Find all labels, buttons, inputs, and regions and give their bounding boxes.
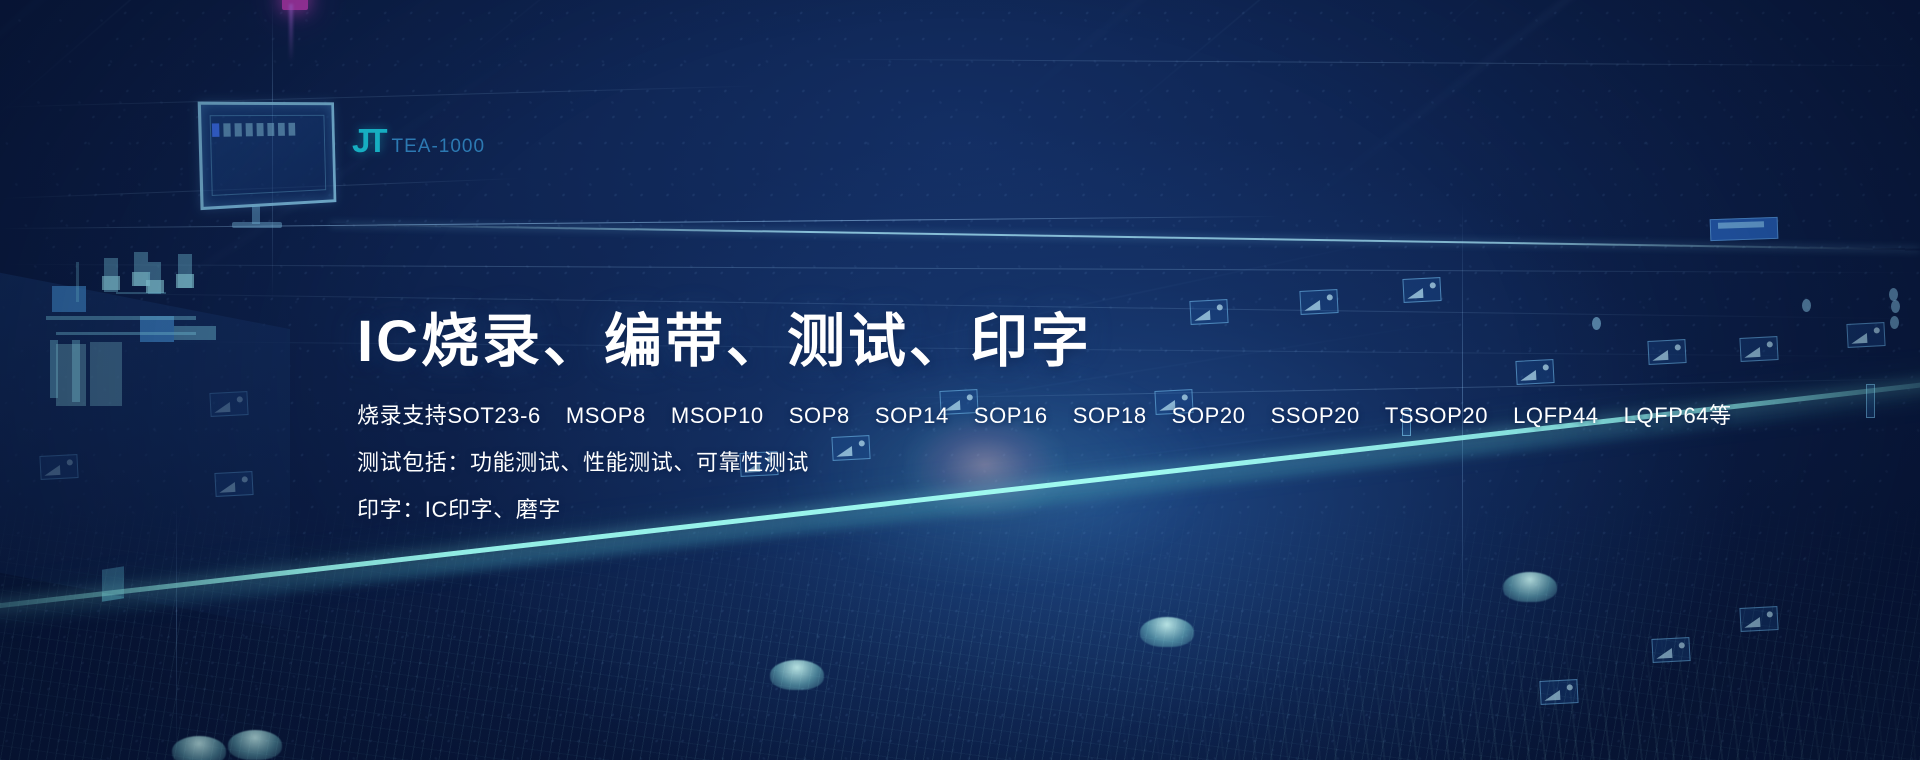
logo-mark-text: JT bbox=[352, 122, 385, 160]
package-item: LQFP64 bbox=[1624, 403, 1710, 428]
package-item: SOP18 bbox=[1073, 403, 1147, 428]
package-item: SOP16 bbox=[974, 403, 1048, 428]
marking-line: 印字：IC印字、磨字 bbox=[357, 499, 1617, 521]
description-lines: 烧录支持SOT23-6MSOP8MSOP10SOP8SOP14SOP16SOP1… bbox=[357, 405, 1617, 521]
package-item: SOP20 bbox=[1172, 403, 1246, 428]
jt-logo: JT TEA-1000 bbox=[352, 122, 485, 160]
package-item: MSOP8 bbox=[566, 403, 646, 428]
banner-content: IC烧录、编带、测试、印字 烧录支持SOT23-6MSOP8MSOP10SOP8… bbox=[357, 310, 1617, 546]
monitor-screen-graphic bbox=[198, 102, 337, 211]
chip-glyph-icon bbox=[1739, 336, 1778, 362]
equipment-box-icon bbox=[1710, 217, 1779, 241]
rail-foot bbox=[770, 660, 824, 690]
rail-foot bbox=[228, 730, 282, 760]
hero-banner: JT TEA-1000 IC烧录、编带、测试、印字 烧录支持SOT23-6MSO… bbox=[0, 0, 1920, 760]
package-item: TSSOP20 bbox=[1385, 403, 1488, 428]
chip-glyph-icon bbox=[1402, 277, 1441, 303]
package-item: SSOP20 bbox=[1271, 403, 1360, 428]
dot-glyph-icon bbox=[1890, 316, 1899, 329]
production-machine-graphic bbox=[16, 240, 216, 430]
magenta-accent-light bbox=[282, 0, 308, 10]
chip-glyph-icon bbox=[1647, 339, 1686, 365]
package-item: SOP8 bbox=[789, 403, 850, 428]
package-item: SOP14 bbox=[875, 403, 949, 428]
logo-model-text: TEA-1000 bbox=[392, 136, 486, 158]
chip-glyph-icon bbox=[1846, 322, 1885, 348]
package-item: MSOP10 bbox=[671, 403, 764, 428]
package-item: LQFP44 bbox=[1513, 403, 1599, 428]
rail-foot bbox=[1140, 617, 1194, 647]
rail-foot bbox=[172, 736, 226, 760]
rail-foot bbox=[1503, 572, 1557, 602]
test-line: 测试包括：功能测试、性能测试、可靠性测试 bbox=[357, 452, 1617, 474]
package-list: MSOP8MSOP10SOP8SOP14SOP16SOP18SOP20SSOP2… bbox=[566, 403, 1709, 428]
circuit-floor-texture-right bbox=[740, 530, 1920, 760]
magenta-beam bbox=[289, 4, 293, 62]
dot-glyph-icon bbox=[1891, 300, 1900, 313]
dot-glyph-icon bbox=[1802, 299, 1811, 312]
burn-suffix-text: 等 bbox=[1709, 403, 1732, 428]
dot-glyph-icon bbox=[1889, 288, 1898, 301]
page-title: IC烧录、编带、测试、印字 bbox=[357, 310, 1617, 375]
burn-support-line: 烧录支持SOT23-6MSOP8MSOP10SOP8SOP14SOP16SOP1… bbox=[357, 405, 1617, 427]
burn-prefix-text: 烧录支持SOT23-6 bbox=[357, 403, 541, 428]
monitor-foot bbox=[232, 222, 282, 228]
